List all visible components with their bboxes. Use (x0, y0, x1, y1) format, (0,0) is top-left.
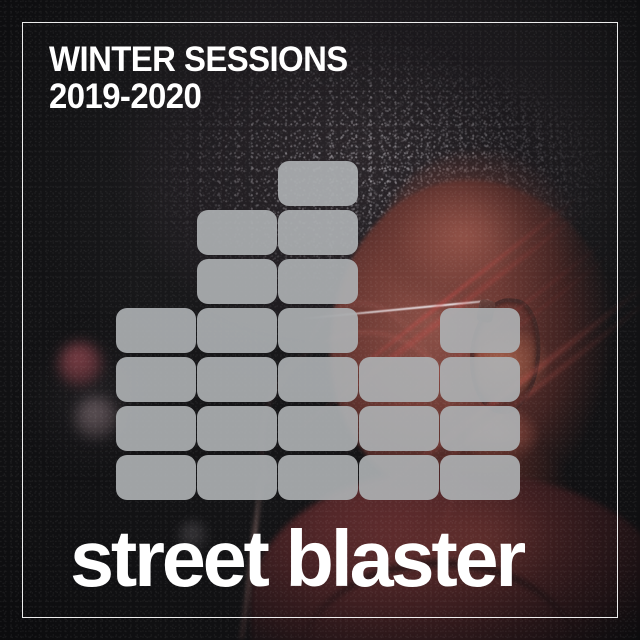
equalizer-column-1 (116, 308, 196, 500)
equalizer-cell (440, 308, 520, 353)
equalizer-cell (440, 357, 520, 402)
equalizer-column-2 (197, 210, 277, 500)
bokeh-circle-red (58, 342, 102, 386)
bokeh-circle-mauve (74, 396, 118, 440)
album-cover: WINTER SESSIONS 2019-2020 street blaster (0, 0, 640, 640)
equalizer-cell (116, 308, 196, 353)
equalizer-cell (197, 210, 277, 255)
equalizer-cell (278, 161, 358, 206)
equalizer-cell (278, 259, 358, 304)
title-line-1: WINTER SESSIONS (49, 41, 348, 78)
equalizer-cell (116, 406, 196, 451)
equalizer-cell (278, 406, 358, 451)
equalizer-cell (440, 455, 520, 500)
equalizer-cell (278, 210, 358, 255)
brand-wordmark: street blaster (70, 518, 523, 600)
equalizer-cell (116, 357, 196, 402)
equalizer-cell (359, 406, 439, 451)
equalizer-cell (197, 406, 277, 451)
equalizer-column-3 (278, 161, 358, 500)
title-line-2: 2019-2020 (49, 78, 348, 115)
title-block: WINTER SESSIONS 2019-2020 (49, 41, 367, 115)
equalizer-graphic (116, 160, 522, 500)
equalizer-column-4 (359, 357, 439, 500)
equalizer-cell (278, 455, 358, 500)
equalizer-cell (359, 455, 439, 500)
equalizer-cell (197, 455, 277, 500)
equalizer-column-5 (440, 308, 520, 500)
equalizer-cell (197, 357, 277, 402)
equalizer-cell (440, 406, 520, 451)
equalizer-cell (278, 308, 358, 353)
equalizer-cell (197, 308, 277, 353)
equalizer-cell (197, 259, 277, 304)
equalizer-cell (359, 357, 439, 402)
equalizer-cell (278, 357, 358, 402)
equalizer-cell (116, 455, 196, 500)
